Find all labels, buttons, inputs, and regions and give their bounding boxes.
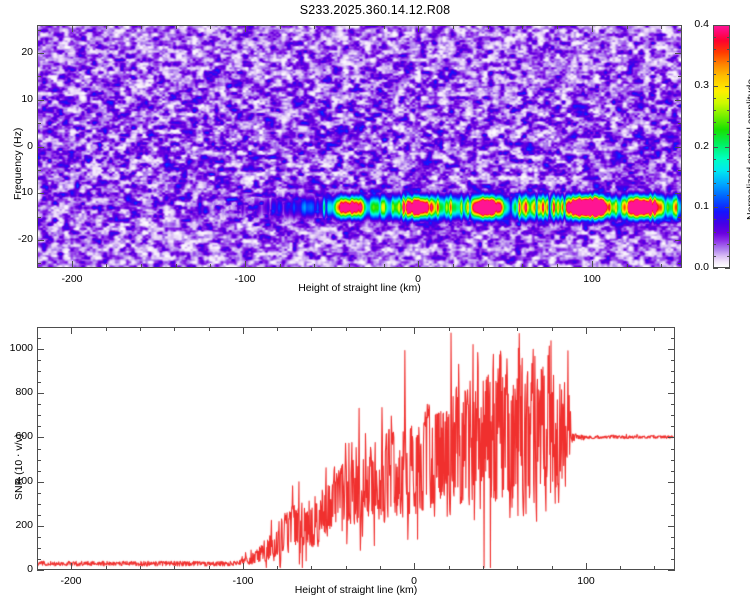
y-tick-label: 200 (0, 519, 33, 531)
tick-mark (210, 264, 211, 268)
tick-mark (713, 268, 716, 269)
colorbar-title: Normalized spectral amplitude (745, 79, 750, 220)
tick-mark (557, 264, 558, 268)
tick-mark (522, 25, 523, 29)
tick-mark (727, 74, 730, 75)
tick-mark (176, 25, 177, 29)
tick-mark (727, 171, 730, 172)
tick-mark (620, 566, 621, 570)
tick-mark (668, 437, 675, 438)
tick-mark (37, 327, 41, 328)
tick-mark (37, 76, 41, 77)
tick-mark (517, 327, 518, 331)
tick-mark (727, 98, 730, 99)
tick-mark (453, 264, 454, 268)
tick-mark (176, 264, 177, 268)
tick-mark (586, 563, 587, 570)
tick-mark (627, 264, 628, 268)
tick-mark (483, 566, 484, 570)
tick-mark (727, 122, 730, 123)
tick-mark (311, 566, 312, 570)
y-tick-label: -20 (0, 233, 33, 245)
tick-mark (713, 49, 716, 50)
tick-mark (346, 327, 347, 331)
tick-mark (713, 86, 716, 87)
tick-mark (71, 327, 72, 334)
spectrogram-panel (37, 25, 682, 268)
tick-mark (245, 261, 246, 268)
tick-mark (557, 25, 558, 29)
y-tick-label: 1000 (0, 342, 33, 354)
tick-mark (37, 371, 41, 372)
tick-mark (713, 61, 716, 62)
tick-mark (72, 25, 73, 32)
tick-mark (727, 49, 730, 50)
tick-mark (668, 570, 675, 571)
tick-mark (37, 25, 38, 29)
tick-mark (37, 471, 41, 472)
tick-mark (668, 393, 675, 394)
tick-mark (37, 240, 44, 241)
y-tick-label: 10 (0, 93, 33, 105)
tick-mark (488, 264, 489, 268)
tick-mark (727, 110, 730, 111)
tick-mark (678, 30, 682, 31)
tick-mark (713, 256, 716, 257)
tick-mark (727, 147, 730, 148)
tick-mark (713, 207, 716, 208)
tick-mark (522, 264, 523, 268)
tick-mark (675, 193, 682, 194)
tick-mark (349, 264, 350, 268)
tick-mark (727, 25, 730, 26)
tick-mark (414, 327, 415, 334)
tick-mark (668, 526, 675, 527)
tick-mark (678, 170, 682, 171)
tick-mark (727, 195, 730, 196)
tick-mark (72, 261, 73, 268)
spectrogram-xaxis-title: Height of straight line (km) (37, 282, 682, 294)
tick-mark (174, 566, 175, 570)
tick-mark (453, 25, 454, 29)
tick-mark (727, 86, 730, 87)
tick-mark (37, 382, 41, 383)
tick-mark (37, 30, 41, 31)
tick-mark (210, 25, 211, 29)
tick-mark (661, 25, 662, 29)
tick-mark (661, 264, 662, 268)
tick-mark (727, 159, 730, 160)
colorbar-tick-label: 0.1 (679, 200, 709, 212)
tick-mark (37, 537, 41, 538)
y-tick-label: 0 (0, 563, 33, 575)
colorbar-tick-label: 0.0 (679, 261, 709, 273)
tick-mark (277, 327, 278, 331)
tick-mark (727, 207, 730, 208)
tick-mark (671, 515, 675, 516)
tick-mark (37, 360, 41, 361)
tick-mark (37, 404, 41, 405)
tick-mark (209, 566, 210, 570)
tick-mark (106, 264, 107, 268)
tick-mark (380, 566, 381, 570)
tick-mark (349, 25, 350, 29)
tick-mark (140, 566, 141, 570)
tick-mark (671, 504, 675, 505)
tick-mark (713, 37, 716, 38)
tick-mark (713, 183, 716, 184)
tick-mark (449, 327, 450, 331)
tick-mark (37, 415, 41, 416)
spectrogram-yaxis-title: Frequency (Hz) (12, 128, 24, 200)
tick-mark (106, 566, 107, 570)
figure-root: S233.2025.360.14.12.R08 -200-1000100-20-… (0, 0, 750, 600)
colorbar-tick-label: 0.3 (679, 79, 709, 91)
tick-mark (418, 261, 419, 268)
tick-mark (37, 264, 38, 268)
tick-mark (311, 327, 312, 331)
tick-mark (37, 460, 41, 461)
tick-mark (727, 219, 730, 220)
tick-mark (713, 98, 716, 99)
colorbar-tick-label: 0.2 (679, 140, 709, 152)
tick-mark (713, 171, 716, 172)
tick-mark (713, 219, 716, 220)
tick-mark (280, 25, 281, 29)
tick-mark (37, 123, 41, 124)
tick-mark (37, 393, 44, 394)
tick-mark (243, 327, 244, 334)
colorbar-tick-label: 0.4 (679, 18, 709, 30)
tick-mark (245, 25, 246, 32)
tick-mark (592, 261, 593, 268)
tick-mark (671, 426, 675, 427)
tick-mark (678, 76, 682, 77)
tick-mark (713, 74, 716, 75)
tick-mark (280, 264, 281, 268)
tick-mark (141, 25, 142, 29)
tick-mark (552, 566, 553, 570)
tick-mark (314, 25, 315, 29)
tick-mark (727, 183, 730, 184)
tick-mark (37, 570, 44, 571)
tick-mark (713, 134, 716, 135)
tick-mark (671, 371, 675, 372)
tick-mark (314, 264, 315, 268)
tick-mark (671, 548, 675, 549)
tick-mark (713, 122, 716, 123)
tick-mark (488, 25, 489, 29)
tick-mark (37, 493, 41, 494)
tick-mark (174, 327, 175, 331)
tick-mark (586, 327, 587, 334)
tick-mark (675, 53, 682, 54)
tick-mark (671, 327, 675, 328)
tick-mark (449, 566, 450, 570)
tick-mark (727, 232, 730, 233)
y-tick-label: 20 (0, 46, 33, 58)
tick-mark (671, 559, 675, 560)
tick-mark (380, 327, 381, 331)
tick-mark (414, 563, 415, 570)
tick-mark (418, 25, 419, 32)
tick-mark (552, 327, 553, 331)
tick-mark (727, 134, 730, 135)
tick-mark (106, 25, 107, 29)
tick-mark (620, 327, 621, 331)
tick-mark (592, 25, 593, 32)
spectrogram-plot-area (38, 26, 681, 267)
tick-mark (671, 338, 675, 339)
tick-mark (713, 110, 716, 111)
tick-mark (727, 61, 730, 62)
tick-mark (678, 217, 682, 218)
tick-mark (654, 327, 655, 331)
tick-mark (668, 349, 675, 350)
tick-mark (668, 482, 675, 483)
tick-mark (37, 426, 41, 427)
spectrogram-image (38, 26, 681, 267)
tick-mark (37, 100, 44, 101)
tick-mark (37, 437, 44, 438)
tick-mark (671, 537, 675, 538)
tick-mark (675, 100, 682, 101)
tick-mark (713, 159, 716, 160)
tick-mark (106, 327, 107, 331)
tick-mark (243, 563, 244, 570)
tick-mark (140, 327, 141, 331)
tick-mark (209, 327, 210, 331)
tick-mark (727, 37, 730, 38)
tick-mark (384, 25, 385, 29)
snr-plot-area (38, 328, 674, 569)
tick-mark (713, 147, 716, 148)
tick-mark (37, 526, 44, 527)
tick-mark (671, 415, 675, 416)
tick-mark (671, 382, 675, 383)
tick-mark (37, 548, 41, 549)
tick-mark (713, 25, 716, 26)
tick-mark (727, 256, 730, 257)
tick-mark (384, 264, 385, 268)
tick-mark (37, 338, 41, 339)
snr-yaxis-title: SNR (10 ⋅ v/v) (13, 434, 25, 500)
tick-mark (671, 471, 675, 472)
figure-title: S233.2025.360.14.12.R08 (0, 3, 750, 17)
tick-mark (37, 449, 41, 450)
tick-mark (37, 170, 41, 171)
tick-mark (671, 404, 675, 405)
tick-mark (37, 559, 41, 560)
tick-mark (37, 263, 41, 264)
snr-panel (37, 327, 675, 570)
tick-mark (141, 264, 142, 268)
y-tick-label: 800 (0, 386, 33, 398)
tick-mark (727, 268, 730, 269)
tick-mark (37, 217, 41, 218)
tick-mark (37, 515, 41, 516)
snr-xaxis-title: Height of straight line (km) (37, 584, 675, 596)
tick-mark (627, 25, 628, 29)
tick-mark (713, 232, 716, 233)
tick-mark (713, 195, 716, 196)
tick-mark (37, 53, 44, 54)
tick-mark (654, 566, 655, 570)
tick-mark (37, 482, 44, 483)
tick-mark (37, 504, 41, 505)
tick-mark (671, 493, 675, 494)
tick-mark (713, 244, 716, 245)
tick-mark (517, 566, 518, 570)
snr-line-series (38, 328, 674, 569)
tick-mark (727, 244, 730, 245)
tick-mark (678, 123, 682, 124)
tick-mark (671, 360, 675, 361)
tick-mark (675, 240, 682, 241)
tick-mark (37, 193, 44, 194)
tick-mark (277, 566, 278, 570)
tick-mark (71, 563, 72, 570)
tick-mark (346, 566, 347, 570)
tick-mark (671, 449, 675, 450)
tick-mark (671, 460, 675, 461)
tick-mark (37, 147, 44, 148)
tick-mark (483, 327, 484, 331)
tick-mark (37, 349, 44, 350)
